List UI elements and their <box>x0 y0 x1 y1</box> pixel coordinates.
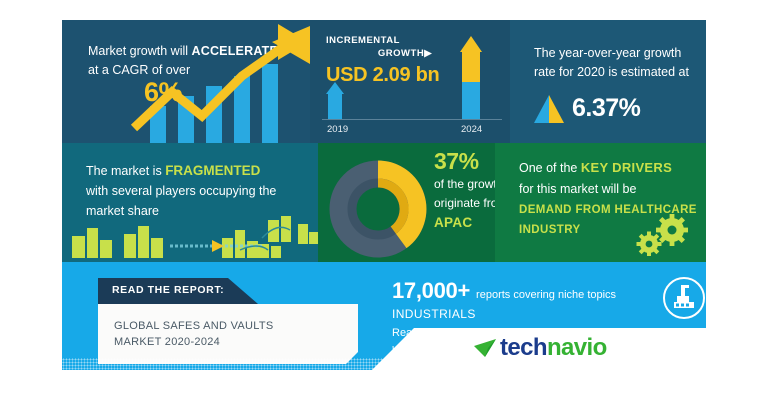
technavio-arrow-icon <box>472 337 498 359</box>
panel-yoy-growth: The year-over-year growth rate for 2020 … <box>510 20 706 143</box>
report-title-card[interactable]: GLOBAL SAFES AND VAULTSMARKET 2020-2024 <box>98 304 358 364</box>
logo-text-tech: tech <box>500 334 547 362</box>
report-title-line2: MARKET 2020-2024 <box>114 336 220 348</box>
infographic-root: Market growth will ACCELERATE at a CAGR … <box>62 20 706 370</box>
yoy-text-line2: rate for 2020 is estimated at <box>534 65 689 79</box>
yoy-text: The year-over-year growth rate for 2020 … <box>534 44 704 82</box>
report-title-line1: GLOBAL SAFES AND VAULTS <box>114 320 274 332</box>
panel-key-drivers: One of the KEY DRIVERS for this market w… <box>495 143 706 262</box>
panel-cagr: Market growth will ACCELERATE at a CAGR … <box>62 20 310 143</box>
fragmented-line1a: The market is <box>86 164 165 178</box>
technavio-logo[interactable]: technavio <box>472 334 607 362</box>
logo-text-navio: navio <box>547 334 607 362</box>
apac-text-block: 37% of the growth will originate from AP… <box>434 147 495 233</box>
panel-apac-share: 37% of the growth will originate from AP… <box>318 143 495 262</box>
incremental-year-start: 2019 <box>327 124 348 135</box>
key-drivers-line2: for this market will be <box>519 182 636 196</box>
panel-incremental-growth: INCREMENTAL GROWTH▶ USD 2.09 bn 2019 202… <box>310 20 510 143</box>
fragmented-line2: with several players occupying the <box>86 184 276 198</box>
yoy-text-line1: The year-over-year growth <box>534 46 681 60</box>
report-count-note: reports covering niche topics <box>476 289 616 301</box>
incremental-year-end: 2024 <box>461 124 482 135</box>
apac-region: APAC <box>434 213 495 233</box>
city-buildings-icon <box>62 216 318 260</box>
read-the-report-tab[interactable]: READ THE REPORT: <box>98 278 258 304</box>
fragmented-text: The market is FRAGMENTED with several pl… <box>86 161 306 221</box>
industry-label: INDUSTRIALS <box>392 307 692 321</box>
industrials-factory-icon <box>662 276 706 320</box>
gears-icon <box>634 214 694 256</box>
apac-line1: of the growth will <box>434 175 495 194</box>
growth-bars-chart <box>62 20 310 143</box>
apac-percent: 37% <box>434 147 495 175</box>
yoy-value: 6.37% <box>572 94 640 123</box>
incremental-axis-line <box>322 119 502 120</box>
apac-line2: originate from <box>434 194 495 213</box>
read-the-report-label: READ THE REPORT: <box>112 284 224 296</box>
footer-logo-area: technavio <box>372 328 706 370</box>
apac-donut-chart <box>326 157 430 261</box>
report-count: 17,000+ <box>392 278 470 303</box>
panel-fragmented: The market is FRAGMENTED with several pl… <box>62 143 318 262</box>
bottom-band: READ THE REPORT: GLOBAL SAFES AND VAULTS… <box>62 262 706 370</box>
growth-triangle-icon <box>532 94 566 124</box>
top-row: Market growth will ACCELERATE at a CAGR … <box>62 20 706 143</box>
key-drivers-word: KEY DRIVERS <box>581 160 672 175</box>
key-drivers-line1a: One of the <box>519 161 581 175</box>
report-title: GLOBAL SAFES AND VAULTSMARKET 2020-2024 <box>114 318 344 350</box>
fragmented-word: FRAGMENTED <box>165 163 260 178</box>
middle-row: The market is FRAGMENTED with several pl… <box>62 143 706 262</box>
